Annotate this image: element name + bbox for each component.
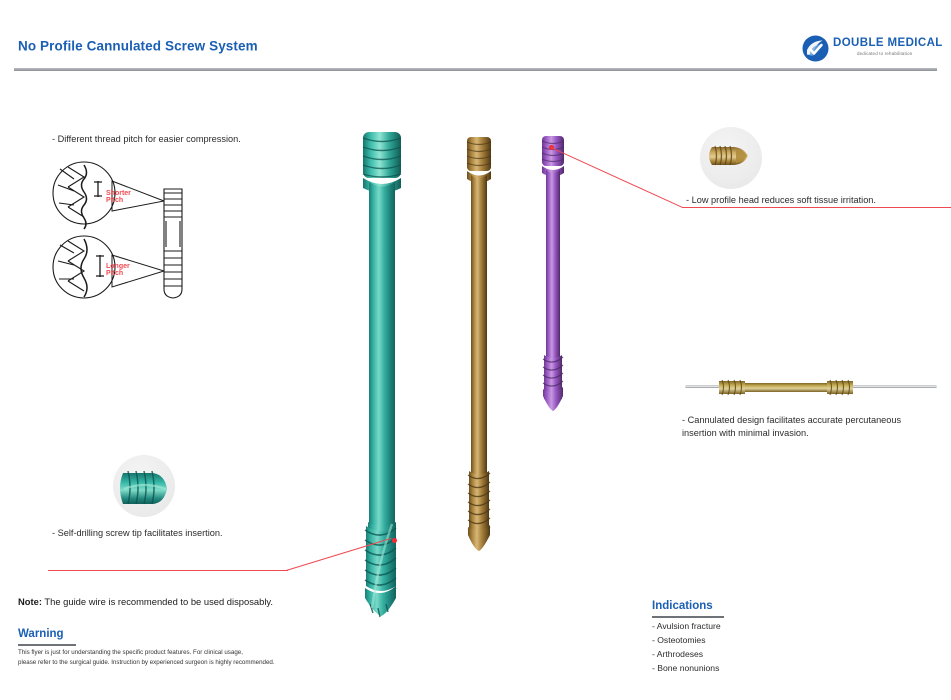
self-drilling-tip-photo-icon <box>113 455 175 517</box>
low-profile-head-inset <box>700 127 762 189</box>
indications-underline <box>652 616 724 618</box>
indications-title: Indications <box>652 600 713 612</box>
self-drilling-underline <box>48 570 288 571</box>
list-item: - Arthrodeses <box>652 648 721 662</box>
low-profile-head-photo-icon <box>700 127 762 189</box>
self-drilling-tip-inset <box>113 455 175 517</box>
double-medical-logo-icon <box>802 35 829 62</box>
low-profile-head-callout: - Low profile head reduces soft tissue i… <box>686 194 876 207</box>
gold-cannulated-screw <box>462 133 504 565</box>
thread-pitch-note: - Different thread pitch for easier comp… <box>52 133 241 146</box>
page-header: No Profile Cannulated Screw System DOUBL… <box>0 0 951 72</box>
svg-text:Pitch: Pitch <box>106 197 123 204</box>
logo-tagline: dedicated to rehabilitation <box>857 51 912 56</box>
indications-list: - Avulsion fracture - Osteotomies - Arth… <box>652 620 721 676</box>
low-profile-underline <box>682 207 951 208</box>
list-item: - Avulsion fracture <box>652 620 721 634</box>
header-divider <box>14 68 937 71</box>
list-item: - Bone nonunions <box>652 662 721 676</box>
teal-cannulated-screw <box>352 126 426 618</box>
list-item: - Osteotomies <box>652 634 721 648</box>
cannulated-screw-on-guide-wire-icon <box>681 374 941 400</box>
flyer-page: No Profile Cannulated Screw System DOUBL… <box>0 0 951 700</box>
note-text: The guide wire is recommended to be used… <box>42 596 273 607</box>
warning-underline <box>18 644 76 646</box>
shorter-pitch-label: Shorter <box>106 190 131 197</box>
self-drilling-tip-callout: - Self-drilling screw tip facilitates in… <box>52 527 223 540</box>
warning-body: This flyer is just for understanding the… <box>18 648 328 668</box>
warning-title: Warning <box>18 628 64 640</box>
svg-text:Pitch: Pitch <box>106 270 123 277</box>
page-title: No Profile Cannulated Screw System <box>18 39 258 54</box>
longer-pitch-label: Longer <box>106 263 130 270</box>
company-logo: DOUBLE MEDICAL dedicated to rehabilitati… <box>802 34 937 64</box>
note-block: Note: The guide wire is recommended to b… <box>18 596 273 607</box>
purple-cannulated-screw <box>538 133 576 425</box>
cannulated-design-callout: - Cannulated design facilitates accurate… <box>682 414 944 441</box>
logo-company-name: DOUBLE MEDICAL <box>833 37 943 49</box>
teal-tip-callout-dot <box>392 538 397 543</box>
thread-pitch-diagram-icon: Shorter Pitch Longer Pitch <box>46 155 206 315</box>
note-label: Note: <box>18 596 42 607</box>
